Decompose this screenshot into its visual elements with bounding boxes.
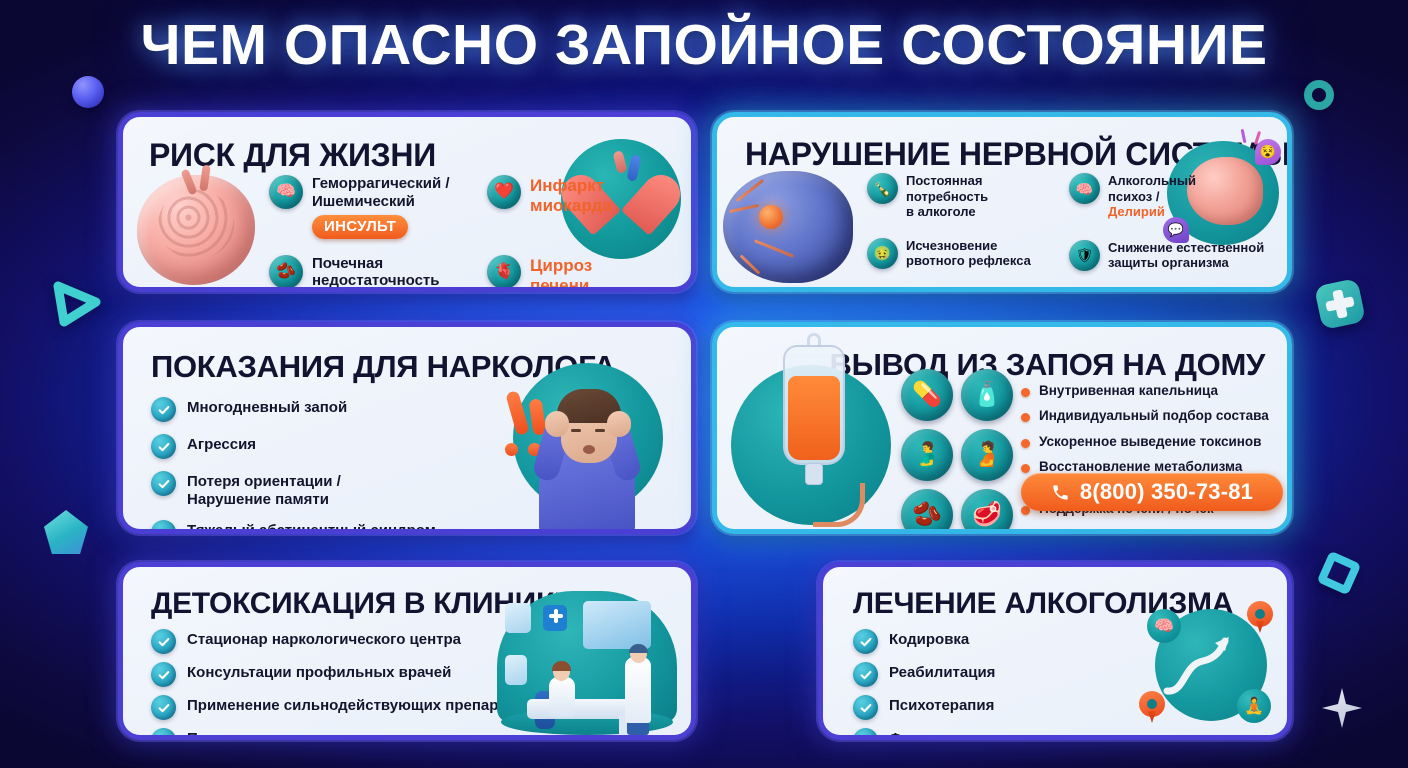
- list-item: Консультации профильных врачей: [151, 662, 532, 687]
- bottle-icon: 🍾: [867, 173, 898, 204]
- risk-item-stroke-line1: Геморрагический /: [312, 175, 450, 193]
- head-brain-icon: 🧠: [1069, 173, 1100, 204]
- vomit-icon: 🤢: [867, 238, 898, 269]
- check-circle-icon: [853, 662, 878, 687]
- check-circle-icon: [151, 728, 176, 740]
- check-circle-icon: [151, 662, 176, 687]
- risk-item-cirrhosis-line1: Цирроз: [530, 255, 592, 275]
- nerve-item-psychosis-line2: психоз /: [1108, 189, 1196, 205]
- card-nervous-system: НАРУШЕНИЕ НЕРВНОЙ СИСТЕМЫ 😵 💬 🍾 Постоянн…: [712, 112, 1292, 292]
- risk-item-infarction-line2: миокарда: [530, 195, 612, 215]
- clinic-room-illustration-icon: [491, 587, 681, 737]
- bullet-dot-icon: [1021, 439, 1030, 448]
- recovery-path-illustration-icon: 🧠 🧘: [1135, 601, 1275, 729]
- check-circle-icon: [151, 397, 176, 422]
- list-item-label: Физиопроцедуры: [889, 728, 1022, 740]
- neuron-dendrites-icon: [723, 171, 853, 283]
- liver-icon: 🥩: [961, 489, 1013, 534]
- intestines-icon: 🫄: [961, 429, 1013, 481]
- risk-item-stroke-line2: Ишемический: [312, 193, 450, 211]
- medicine-bottle-icon: 🧴: [961, 369, 1013, 421]
- list-item: Индивидуальный подбор состава: [1021, 408, 1291, 424]
- list-item-label: Реабилитация: [889, 662, 995, 682]
- pentagon-decor-icon: [44, 510, 88, 554]
- list-item: Применение сильнодействующих препаратов: [151, 695, 532, 720]
- list-item-label: Психотерапия: [889, 695, 994, 715]
- bullet-dot-icon: [1021, 413, 1030, 422]
- check-circle-icon: [853, 629, 878, 654]
- nerve-item-craving: 🍾 Постоянная потребность в алкоголе: [867, 173, 1062, 220]
- shield-check-icon: 🛡: [1069, 240, 1100, 271]
- list-item: Ускоренное выведение токсинов: [1021, 434, 1291, 450]
- list-item-label: Индивидуальный подбор состава: [1039, 408, 1269, 424]
- list-item-label: Кодировка: [889, 629, 969, 649]
- list-item-label: Агрессия: [187, 434, 256, 454]
- list-item: Психотерапия: [853, 695, 1022, 720]
- list-item: Стационар наркологического центра: [151, 629, 532, 654]
- kidneys-icon: 🫘: [269, 255, 303, 289]
- risk-item-kidney-line2: недостаточность: [312, 272, 440, 290]
- stroke-badge: ИНСУЛЬТ: [312, 215, 408, 239]
- check-circle-icon: [151, 520, 176, 534]
- nerve-item-vomit-line1: Исчезновение: [906, 238, 1031, 254]
- list-item: Реабилитация: [853, 662, 1022, 687]
- nerve-item-psychosis-line1: Алкогольный: [1108, 173, 1196, 189]
- nerve-item-delirium: Делирий: [1108, 204, 1165, 219]
- square-ring-decor-icon: [1317, 551, 1362, 596]
- emoji-bubble-icon: 😵: [1255, 139, 1281, 165]
- nerve-item-vomit-reflex: 🤢 Исчезновение рвотного рефлекса: [867, 238, 1062, 269]
- list-item-label: Ускоренное выведение токсинов: [1039, 434, 1261, 450]
- list-item: Тяжелый абстинентный синдром: [151, 520, 436, 534]
- card-title-home: ВЫВОД ИЗ ЗАПОЯ НА ДОМУ: [830, 347, 1265, 383]
- liver-icon: 🫀: [487, 255, 521, 289]
- list-item-label: Тяжелый абстинентный синдром: [187, 520, 436, 534]
- page-title: ЧЕМ ОПАСНО ЗАПОЙНОЕ СОСТОЯНИЕ: [0, 16, 1408, 74]
- list-item: Физиопроцедуры: [853, 728, 1022, 740]
- card-narcologist-indications: ПОКАЗАНИЯ ДЛЯ НАРКОЛОГА Многодневный зап…: [118, 322, 696, 534]
- list-item-label: Внутривенная капельница: [1039, 383, 1218, 399]
- risk-item-kidney: 🫘 Почечная недостаточность: [269, 255, 469, 291]
- check-circle-icon: [151, 471, 176, 496]
- list-item-label: Многодневный запой: [187, 397, 347, 417]
- nerve-item-craving-line1: Постоянная: [906, 173, 988, 189]
- list-item: Многодневный запой: [151, 397, 436, 422]
- risk-item-infarction-line1: Инфаркт: [530, 175, 612, 195]
- check-circle-icon: [151, 629, 176, 654]
- teal-ring-decor-icon: [1304, 80, 1334, 110]
- nerve-item-vomit-line2: рвотного рефлекса: [906, 253, 1031, 269]
- pills-icon: 💊: [901, 369, 953, 421]
- bullet-dot-icon: [1021, 388, 1030, 397]
- list-item-label: Психологическая помощь: [187, 728, 380, 740]
- phone-icon: [1051, 483, 1070, 502]
- risk-item-cirrhosis-line2: печени: [530, 275, 592, 292]
- four-point-star-decor-icon: [1322, 688, 1362, 728]
- phone-call-button[interactable]: 8(800) 350-73-81: [1021, 473, 1283, 511]
- risk-item-infarction: ❤️ Инфаркт миокарда: [487, 175, 687, 215]
- sphere-decor-icon: [72, 76, 104, 108]
- treatment-list: Кодировка Реабилитация Психотерапия Физи…: [853, 629, 1022, 740]
- check-circle-icon: [151, 695, 176, 720]
- list-item: Агрессия: [151, 434, 436, 459]
- check-circle-icon: [151, 434, 176, 459]
- bullet-dot-icon: [1021, 464, 1030, 473]
- list-item: Кодировка: [853, 629, 1022, 654]
- risk-item-kidney-line1: Почечная: [312, 255, 440, 273]
- narcologist-list: Многодневный запой Агрессия Потеря ориен…: [151, 397, 436, 534]
- nerve-item-craving-line2: потребность: [906, 189, 988, 205]
- card-alcoholism-treatment: ЛЕЧЕНИЕ АЛКОГОЛИЗМА Кодировка Реабилитац…: [818, 562, 1292, 740]
- nerve-item-immunity-line2: защиты организма: [1108, 255, 1264, 271]
- nerve-item-immunity: 🛡 Снижение естественной защиты организма: [1069, 240, 1289, 271]
- brain-icon: 🧠: [269, 175, 303, 209]
- list-item-label: Консультации профильных врачей: [187, 662, 451, 682]
- stressed-man-illustration-icon: [499, 357, 669, 532]
- list-item: Внутривенная капельница: [1021, 383, 1291, 399]
- phone-number: 8(800) 350-73-81: [1080, 479, 1253, 505]
- check-circle-icon: [853, 695, 878, 720]
- list-item-label: Применение сильнодействующих препаратов: [187, 695, 532, 715]
- heart-icon: ❤️: [487, 175, 521, 209]
- nerve-item-craving-line3: в алкоголе: [906, 204, 988, 220]
- map-pin-icon: [1139, 691, 1165, 725]
- arrow-path-icon: [1159, 631, 1239, 701]
- kidneys-icon: 🫘: [901, 489, 953, 534]
- card-clinic-detox: ДЕТОКСИКАЦИЯ В КЛИНИКЕ Стационар нарколо…: [118, 562, 696, 740]
- risk-item-stroke: 🧠 Геморрагический / Ишемический ИНСУЛЬТ: [269, 175, 469, 239]
- list-item: Потеря ориентации / Нарушение памяти: [151, 471, 436, 508]
- card-home-detox: ВЫВОД ИЗ ЗАПОЯ НА ДОМУ 💊 🧴 🫃 🫄 🫘 🥩 Внутр…: [712, 322, 1292, 534]
- brain-stem-decor-icon: [183, 165, 223, 199]
- risk-item-cirrhosis: 🫀 Цирроз печени: [487, 255, 687, 292]
- list-item-label: Потеря ориентации / Нарушение памяти: [187, 471, 341, 508]
- stomach-icon: 🫃: [901, 429, 953, 481]
- nerve-item-immunity-line1: Снижение естественной: [1108, 240, 1264, 256]
- check-circle-icon: [853, 728, 878, 740]
- rehab-icon: 🧘: [1237, 689, 1271, 723]
- nerve-item-psychosis: 🧠 Алкогольный психоз / Делирий: [1069, 173, 1289, 220]
- infographic-stage: ЧЕМ ОПАСНО ЗАПОЙНОЕ СОСТОЯНИЕ РИСК ДЛЯ Ж…: [0, 0, 1408, 768]
- medical-cross-decor-icon: [1314, 278, 1366, 330]
- map-pin-icon: [1247, 601, 1273, 635]
- detox-list: Стационар наркологического центра Консул…: [151, 629, 532, 740]
- list-item: Психологическая помощь: [151, 728, 532, 740]
- organ-icon-grid: 💊 🧴 🫃 🫄 🫘 🥩: [901, 369, 1013, 534]
- card-risk-for-life: РИСК ДЛЯ ЖИЗНИ 🧠 Геморрагический / Ишеми…: [118, 112, 696, 292]
- list-item-label: Стационар наркологического центра: [187, 629, 461, 649]
- iv-bag-icon: [783, 345, 845, 465]
